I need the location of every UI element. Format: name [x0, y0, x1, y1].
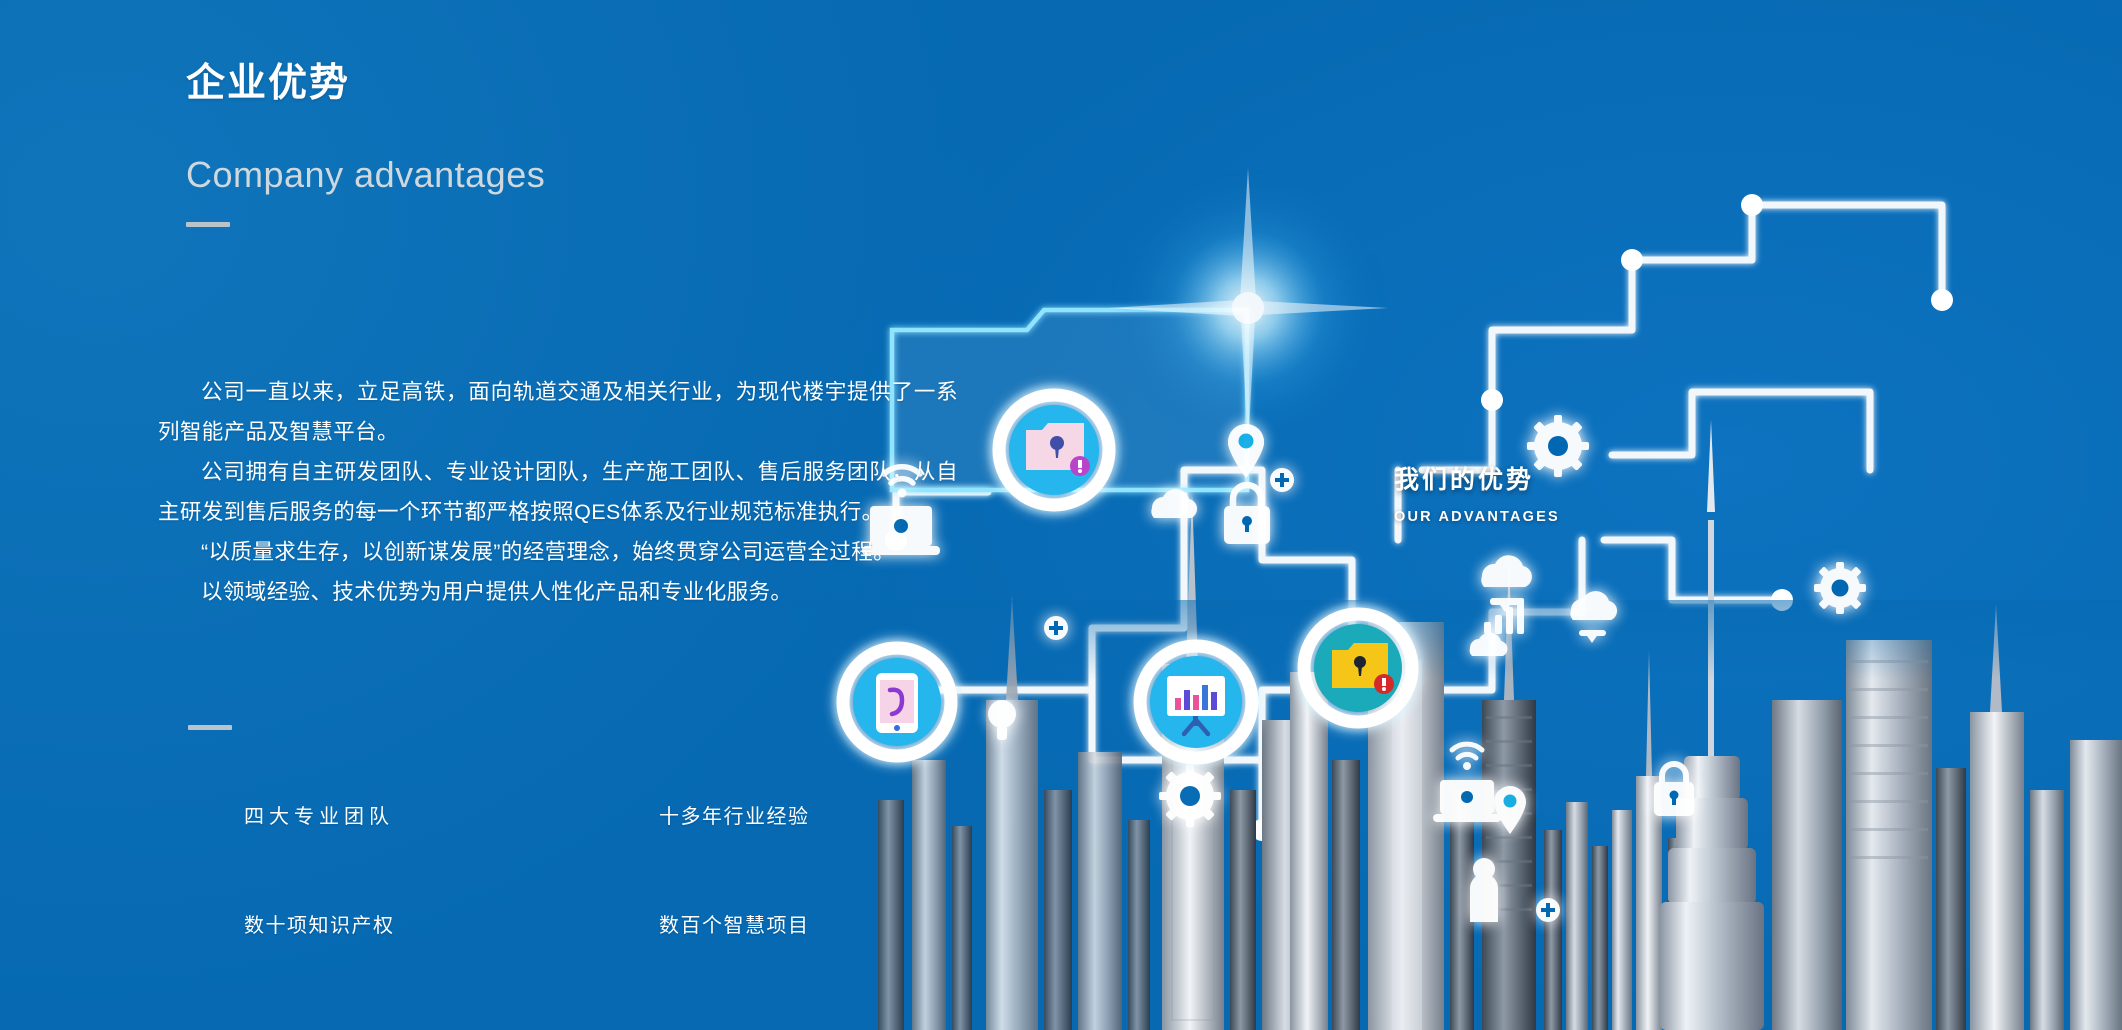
page-title-cn: 企业优势 [186, 60, 1006, 109]
bar-chart-presentation-icon [1126, 632, 1266, 772]
secure-folder-pink-icon [984, 380, 1124, 520]
body-divider [188, 725, 232, 730]
person-icon [1470, 858, 1498, 922]
plus-node-icon [1536, 898, 1560, 922]
background-glow-right [822, 0, 2122, 1030]
our-advantages-card-label: 我们的优势 OUR ADVANTAGES [1394, 460, 1694, 525]
lightbulb-icon [988, 700, 1016, 740]
wifi-icon [1452, 744, 1482, 770]
highlights-grid: 四大专业团队 十多年行业经验 数十项知识产权 数百个智慧项目 [244, 800, 864, 938]
company-advantages-page: 我们的优势 OUR ADVANTAGES 企业优势 Company advant… [0, 0, 2122, 1030]
paragraph: “以质量求生存，以创新谋发展”的经营理念，始终贯穿公司运营全过程。 [158, 532, 958, 572]
highlight-item: 四大专业团队 [244, 800, 659, 829]
card-title-cn: 我们的优势 [1394, 460, 1694, 496]
padlock-icon [1654, 764, 1694, 816]
header-divider [186, 222, 230, 227]
padlock-icon [1224, 485, 1270, 544]
plus-node-icon [1270, 468, 1294, 492]
circuit-node-dots [885, 194, 1953, 841]
section-header: 企业优势 Company advantages [186, 60, 1006, 227]
cityscape-skyline [792, 420, 2122, 1030]
body-copy: 公司一直以来，立足高铁，面向轨道交通及相关行业，为现代楼宇提供了一系列智能产品及… [158, 372, 958, 612]
cloud-upload-icon [1481, 555, 1532, 612]
highlight-item: 十多年行业经验 [659, 800, 864, 829]
signal-bars-icon [1484, 598, 1524, 634]
cloud-icon [1151, 489, 1197, 518]
paragraph: 以领域经验、技术优势为用户提供人性化产品和专业化服务。 [158, 572, 958, 612]
circuit-network-lines [896, 205, 1942, 830]
highlight-item: 数百个智慧项目 [659, 909, 864, 938]
lens-flare-star [1108, 168, 1388, 448]
secure-folder-yellow-icon [1290, 600, 1426, 736]
paragraph: 公司拥有自主研发团队、专业设计团队，生产施工团队、售后服务团队，从自主研发到售后… [158, 452, 958, 532]
gear-icon [1814, 562, 1866, 614]
card-title-en: OUR ADVANTAGES [1394, 509, 1694, 525]
map-pin-icon [1494, 786, 1526, 834]
smartphone-call-icon [829, 634, 965, 770]
page-title-en: Company advantages [186, 153, 1006, 196]
plus-node-icon [1044, 616, 1068, 640]
cloud-upload-icon [1570, 591, 1617, 643]
gear-icon [1159, 765, 1221, 827]
highlight-item: 数十项知识产权 [244, 909, 659, 938]
antenna-tower [1660, 420, 1764, 1030]
gear-icon [1527, 415, 1589, 477]
laptop-icon [1433, 780, 1501, 822]
paragraph: 公司一直以来，立足高铁，面向轨道交通及相关行业，为现代楼宇提供了一系列智能产品及… [158, 372, 958, 452]
cloud-icon [1470, 633, 1508, 656]
map-pin-icon [1228, 424, 1264, 478]
